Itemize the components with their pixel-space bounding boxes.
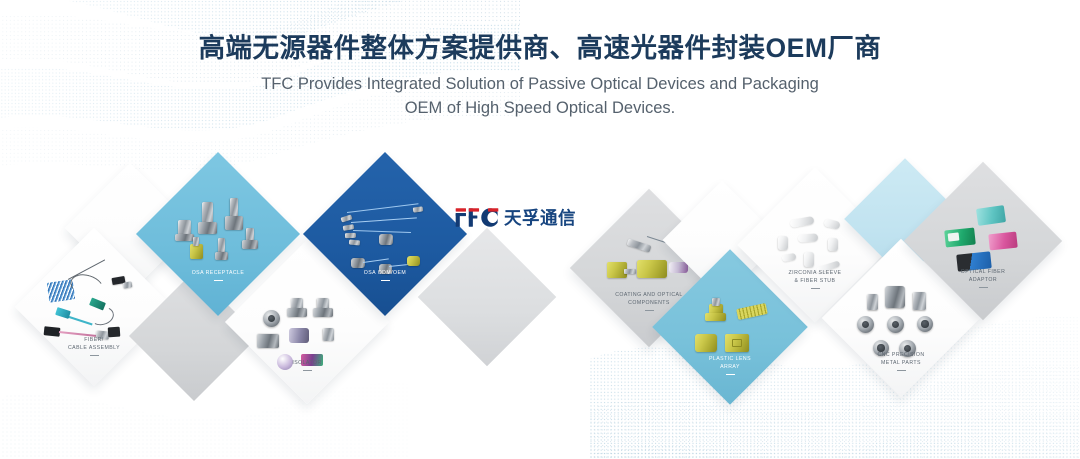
tile-label-line-1: PLASTIC LENS — [709, 356, 751, 362]
adaptor-pink — [988, 232, 1018, 251]
pigtail-ferrule-3 — [345, 233, 356, 238]
tile-label-line-1: FIBER/ — [84, 337, 103, 343]
zirconia-sleeve-3 — [778, 236, 788, 250]
label-dash — [979, 287, 988, 288]
label-dash — [214, 280, 223, 281]
receptacle-ferrule-2-base — [198, 222, 217, 234]
isolator-base-2 — [313, 308, 333, 317]
pigtail-ferrule-tip-right — [413, 206, 424, 212]
label-dash — [645, 310, 654, 311]
tile-label-line-2: & FIBER STUB — [795, 278, 836, 284]
zirconia-sleeve-5 — [828, 238, 838, 251]
tile-label-line-1: OPTICAL FIBER — [961, 269, 1006, 275]
connector-black-end — [108, 327, 121, 338]
tile-label-line-1: COATING AND OPTICAL — [615, 292, 683, 298]
tile-label-line-1: ISOLATOR — [292, 360, 321, 366]
zirconia-sleeve-1 — [789, 216, 814, 228]
isolator-barrel-violet — [289, 328, 309, 343]
label-dash — [726, 374, 735, 375]
lens-part-bottom-right-window — [732, 339, 742, 347]
headline-chinese: 高端无源器件整体方案提供商、高速光器件封装OEM厂商 — [0, 32, 1080, 65]
headline-block: 高端无源器件整体方案提供商、高速光器件封装OEM厂商 TFC Provides … — [0, 32, 1080, 121]
pigtail-strand-4 — [363, 258, 389, 263]
headline-english-line-2: OEM of High Speed Optical Devices. — [0, 97, 1080, 121]
connector-black-block — [44, 326, 61, 337]
tile-label-plastic-lens-array: PLASTIC LENS ARRAY — [675, 356, 785, 375]
optical-block-ferrule — [624, 269, 636, 274]
tfc-logo-mark-icon — [455, 207, 499, 228]
optical-block-gold-2 — [637, 260, 667, 278]
tile-label-line-2: METAL PARTS — [881, 360, 921, 366]
tile-label-osa-receptacle: OSA RECEPTACLE — [160, 270, 276, 281]
tile-label-line-1: ZIRCONIA SLEEVE — [789, 270, 842, 276]
collimator-body — [627, 238, 652, 252]
cnc-ring-2 — [887, 316, 904, 333]
cnc-ring-1 — [857, 316, 874, 333]
mpo-connector-metal-1 — [123, 281, 133, 288]
tfc-product-banner: 高端无源器件整体方案提供商、高速光器件封装OEM厂商 TFC Provides … — [0, 0, 1080, 459]
optical-barrel-violet — [669, 262, 688, 273]
label-dash — [90, 355, 99, 356]
cnc-part-3 — [913, 292, 926, 310]
osa-can-center — [379, 234, 393, 245]
headline-english: TFC Provides Integrated Solution of Pass… — [0, 73, 1080, 121]
label-dash — [303, 370, 312, 371]
connector-cyan — [55, 307, 71, 319]
pigtail-strand-2 — [351, 217, 417, 223]
tile-label-line-1: OSA ODM/OEM — [364, 270, 406, 276]
lens-part-top-cap — [712, 298, 720, 306]
lens-array-strip — [736, 303, 768, 320]
isolator-block-dark — [257, 334, 279, 348]
zirconia-sleeve-2 — [823, 218, 840, 230]
cnc-part-2 — [885, 286, 905, 308]
pigtail-strand-1 — [347, 203, 419, 213]
osa-can-gold — [407, 256, 420, 266]
receptacle-ferrule-5-base — [242, 240, 258, 249]
zirconia-sleeve-6 — [781, 253, 796, 262]
lens-part-bottom-left — [695, 334, 717, 352]
tile-label-line-2: ARRAY — [720, 364, 740, 370]
headline-english-line-1: TFC Provides Integrated Solution of Pass… — [0, 73, 1080, 97]
cnc-part-1 — [867, 294, 878, 310]
label-dash — [381, 280, 390, 281]
zirconia-sleeve-7 — [804, 252, 814, 267]
tfc-logo[interactable]: 天孚通信 — [455, 205, 576, 230]
adaptor-cyan — [976, 205, 1006, 226]
label-dash — [811, 288, 820, 289]
tile-label-line-2: CABLE ASSEMBLY — [68, 345, 120, 351]
adaptor-green-window — [948, 232, 960, 241]
tile-label-line-1: OSA RECEPTACLE — [192, 270, 245, 276]
tile-label-line-2: COMPONENTS — [628, 300, 670, 306]
isolator-ring-1 — [263, 310, 280, 327]
zirconia-sleeve-4 — [798, 233, 819, 242]
pigtail-strand-3 — [353, 230, 411, 233]
isolator-body-3 — [323, 328, 334, 341]
label-dash — [897, 370, 906, 371]
tile-label-line-2: ADAPTOR — [969, 277, 997, 283]
pigtail-ferrule-4 — [349, 239, 360, 245]
cnc-ring-3 — [917, 316, 933, 332]
tile-label-isolator: ISOLATOR — [249, 360, 365, 371]
tfc-logo-company-name: 天孚通信 — [504, 205, 576, 230]
receptacle-ferrule-4-base — [215, 252, 228, 260]
tile-label-cnc-metal-parts: CNC PRECISION METAL PARTS — [845, 352, 957, 371]
tile-label-line-1: CNC PRECISION — [877, 352, 924, 358]
receptacle-ferrule-1-base — [175, 234, 194, 241]
lens-part-top-base — [705, 313, 726, 321]
receptacle-gold-body — [190, 244, 203, 259]
isolator-base-1 — [287, 308, 307, 317]
receptacle-gold-tip — [193, 237, 199, 246]
receptacle-ferrule-3-base — [225, 216, 243, 230]
